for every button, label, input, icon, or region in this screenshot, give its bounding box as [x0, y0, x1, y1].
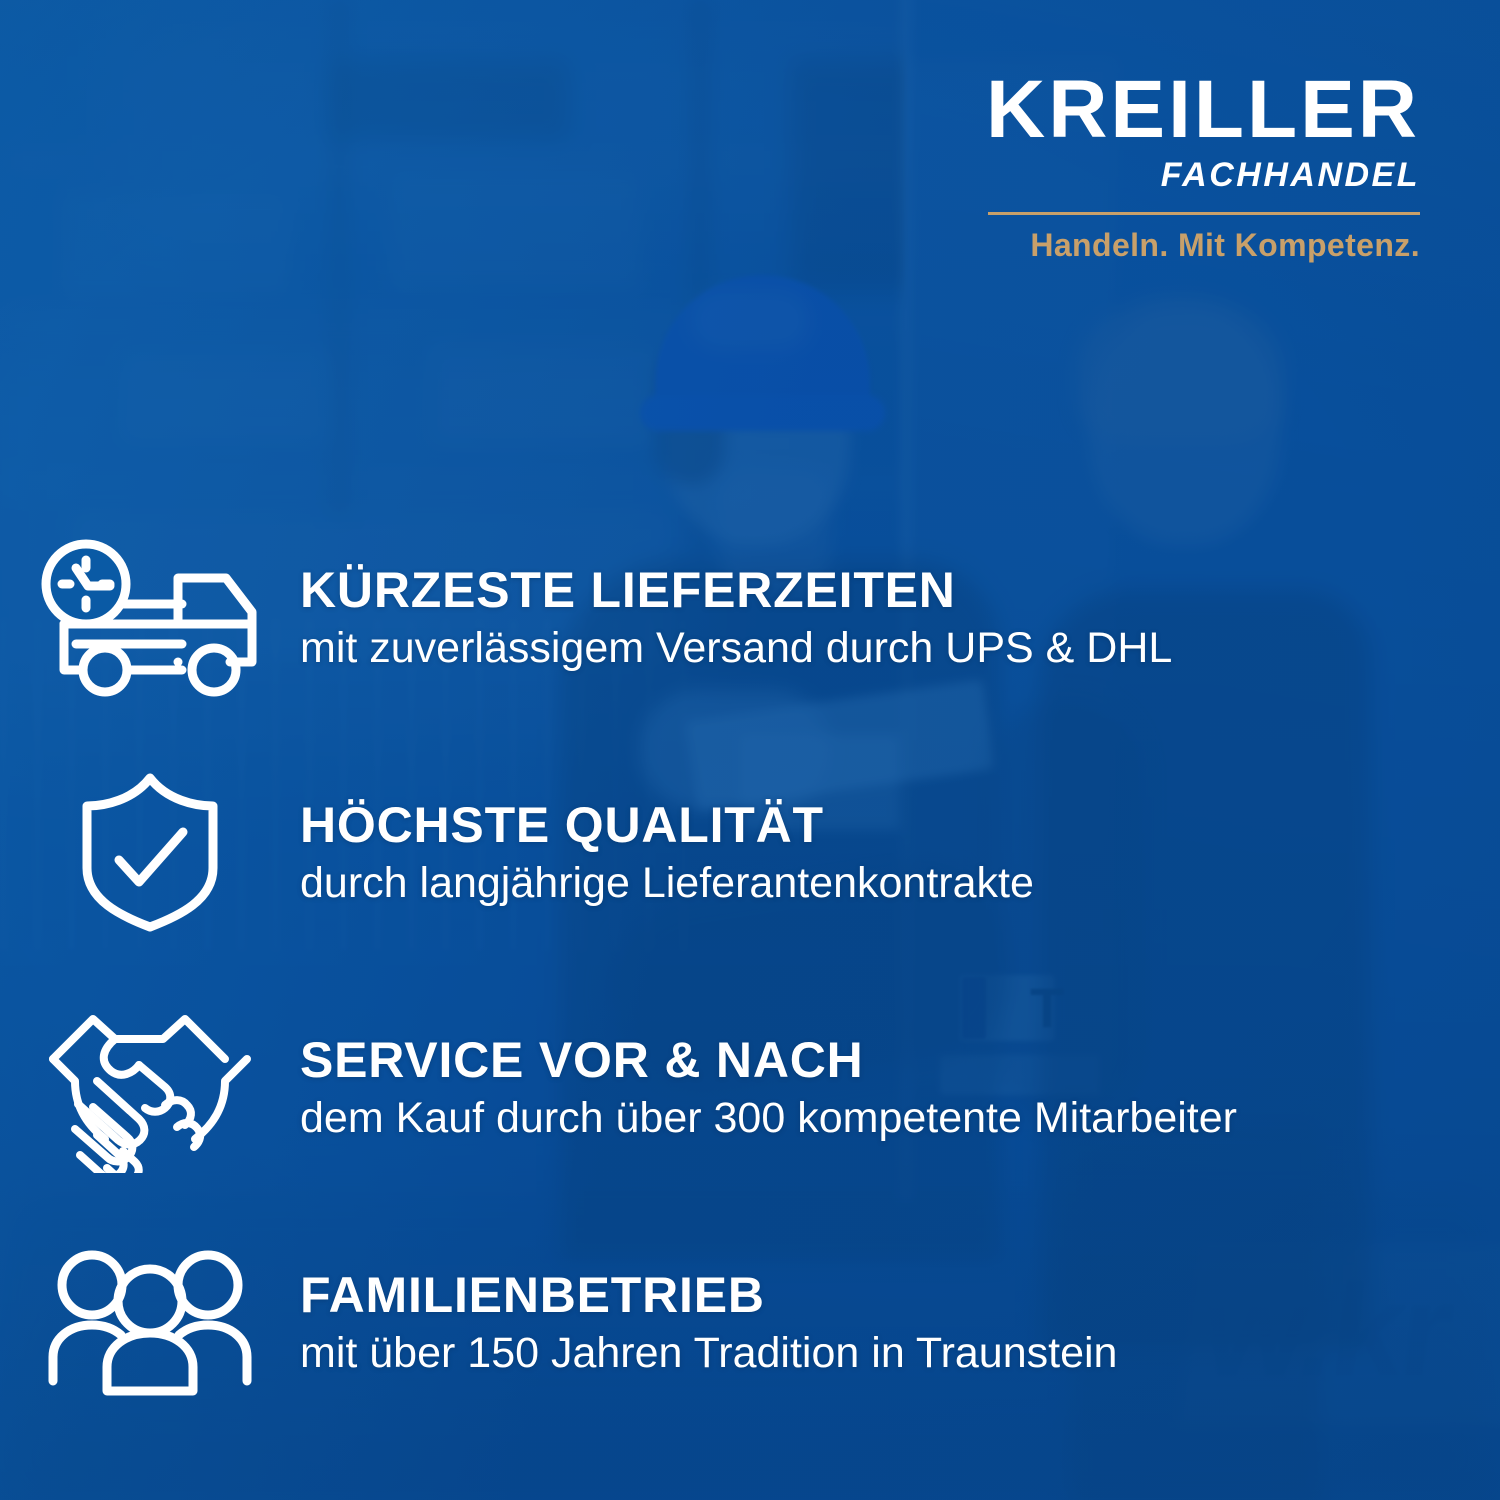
brand-name: KREILLER: [986, 72, 1420, 147]
feature-text: FAMILIENBETRIEB mit über 150 Jahren Trad…: [300, 1268, 1157, 1377]
brand-divider: [988, 212, 1420, 215]
feature-title: FAMILIENBETRIEB: [300, 1268, 1117, 1322]
brand-claim: Handeln. Mit Kompetenz.: [986, 228, 1420, 263]
shield-check-icon: [0, 770, 300, 935]
feature-list: KÜRZESTE LIEFERZEITEN mit zuverlässigem …: [0, 500, 1500, 1440]
delivery-truck-clock-icon: [0, 538, 300, 698]
brand-logo: KREILLER FACHHANDEL Handeln. Mit Kompete…: [986, 72, 1420, 263]
feature-item: KÜRZESTE LIEFERZEITEN mit zuverlässigem …: [0, 500, 1500, 735]
feature-subtitle: dem Kauf durch über 300 kompetente Mitar…: [300, 1094, 1237, 1142]
feature-item: FAMILIENBETRIEB mit über 150 Jahren Trad…: [0, 1205, 1500, 1440]
feature-title: HÖCHSTE QUALITÄT: [300, 798, 1034, 852]
feature-text: KÜRZESTE LIEFERZEITEN mit zuverlässigem …: [300, 563, 1212, 672]
feature-item: HÖCHSTE QUALITÄT durch langjährige Liefe…: [0, 735, 1500, 970]
promo-banner: T w.kr KREILLER FACHHANDEL Hand: [0, 0, 1500, 1500]
feature-subtitle: mit über 150 Jahren Tradition in Traunst…: [300, 1329, 1117, 1377]
feature-text: SERVICE VOR & NACH dem Kauf durch über 3…: [300, 1033, 1277, 1142]
feature-title: KÜRZESTE LIEFERZEITEN: [300, 563, 1172, 617]
brand-subtitle: FACHHANDEL: [986, 157, 1420, 194]
feature-title: SERVICE VOR & NACH: [300, 1033, 1237, 1087]
feature-subtitle: durch langjährige Lieferantenkontrakte: [300, 859, 1034, 907]
feature-text: HÖCHSTE QUALITÄT durch langjährige Liefe…: [300, 798, 1074, 907]
feature-subtitle: mit zuverlässigem Versand durch UPS & DH…: [300, 624, 1172, 672]
handshake-icon: [0, 1003, 300, 1173]
feature-item: SERVICE VOR & NACH dem Kauf durch über 3…: [0, 970, 1500, 1205]
people-group-icon: [0, 1245, 300, 1400]
